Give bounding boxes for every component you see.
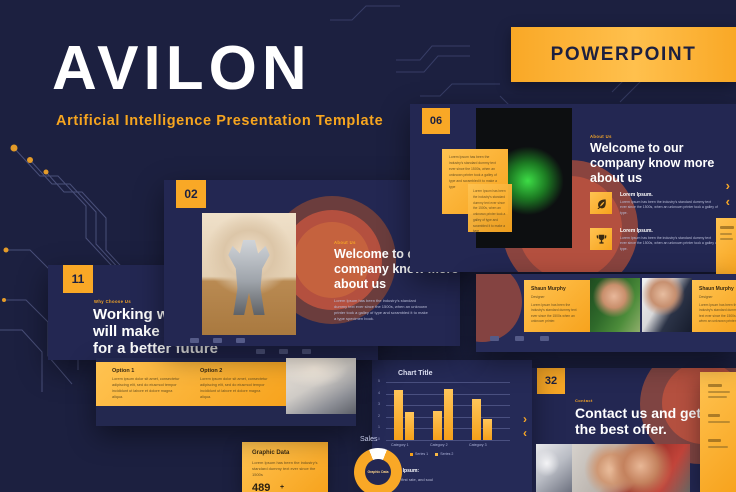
- feature-2-title: Lorem Ipsum.: [620, 228, 718, 234]
- bar-s2-c3: [483, 419, 492, 440]
- slide-number-about-robot: 02: [176, 180, 206, 208]
- contact-headline-line1: Contact us and get: [575, 405, 701, 422]
- about-helmet-prev-icon[interactable]: ‹: [726, 194, 730, 209]
- chart-next-icon[interactable]: ›: [523, 412, 527, 426]
- about-helmet-headline-line3: about us: [590, 171, 642, 186]
- graphic-data-stat: 489: [252, 482, 270, 492]
- team-member-1-name: Shaun Murphy: [531, 286, 566, 292]
- bar-s1-c2: [433, 411, 442, 440]
- about-helmet-next-icon[interactable]: ›: [726, 178, 730, 193]
- about-helmet-callout-2-text: Lorem Ipsum has been the industry's stan…: [473, 189, 507, 235]
- leaf-icon: [590, 192, 612, 214]
- slide-number-contact: 32: [537, 368, 565, 394]
- presentation-preview: AVILON Artificial Intelligence Presentat…: [0, 0, 736, 492]
- page-title: AVILON: [52, 38, 312, 100]
- graphic-data-stat-suffix: +: [280, 484, 284, 491]
- feature-2-text: Lorem Ipsum has been the industry's stan…: [620, 236, 718, 252]
- why-choose-nav-dots[interactable]: [256, 349, 311, 354]
- ytick-3: 3: [378, 402, 380, 406]
- slide-team[interactable]: Shaun Murphy Designer Lorem Ipsum has be…: [476, 274, 736, 352]
- why-choose-eyebrow: Why Choose Us: [94, 299, 131, 304]
- slide-right-orange-panel[interactable]: [700, 372, 736, 492]
- chart-legend: Series 1 Series 2: [410, 452, 453, 456]
- ytick-2: 2: [378, 414, 380, 418]
- slide-options[interactable]: Option 1 Lorem ipsum dolor sit amet, con…: [96, 358, 356, 426]
- feature-item-1[interactable]: Lorem Ipsum. Lorem Ipsum has been the in…: [590, 192, 718, 216]
- option-2-text: Lorem ipsum dolor sit amet, consectetur …: [200, 377, 272, 401]
- sales-title: Sales: [360, 436, 378, 443]
- about-helmet-callout-2: Lorem Ipsum has been the industry's stan…: [468, 184, 512, 232]
- powerpoint-badge: POWERPOINT: [511, 27, 736, 82]
- option-1-text: Lorem ipsum dolor sit amet, consectetur …: [112, 377, 184, 401]
- team-nav-dots[interactable]: [490, 336, 549, 341]
- bar-s1-c1: [394, 390, 403, 440]
- options-orange-panel: Option 1 Lorem ipsum dolor sit amet, con…: [96, 362, 286, 406]
- sales-donut-widget[interactable]: Sales Graphic Data: [340, 434, 416, 492]
- about-helmet-headline-line1: Welcome to our: [590, 141, 684, 156]
- team-member-2-text: Lorem Ipsum has been the industry's stan…: [699, 303, 736, 324]
- legend-series-2: Series 2: [440, 452, 453, 456]
- xtick-category-3: Category 3: [469, 443, 487, 447]
- trophy-icon: [590, 228, 612, 250]
- team-member-1-card[interactable]: Shaun Murphy Designer Lorem Ipsum has be…: [524, 280, 590, 332]
- feature-item-2[interactable]: Lorem Ipsum. Lorem Ipsum has been the in…: [590, 228, 718, 252]
- ytick-5: 5: [378, 379, 380, 383]
- about-helmet-headline-line2: company know more: [590, 156, 714, 171]
- about-robot-photo: [202, 213, 296, 335]
- option-2-title: Option 2: [200, 368, 222, 374]
- slide-number-about-helmet: 06: [422, 108, 450, 134]
- team-member-2-card[interactable]: Shaun Murphy Designer Lorem Ipsum has be…: [692, 280, 736, 332]
- options-photo: [286, 358, 356, 414]
- team-member-1-photo: [590, 278, 640, 332]
- team-member-1-text: Lorem Ipsum has been the industry's stan…: [531, 303, 583, 324]
- about-robot-body: Lorem Ipsum has been the industry's stan…: [334, 298, 430, 322]
- ytick-4: 4: [378, 391, 380, 395]
- about-robot-nav-dots[interactable]: [190, 338, 245, 343]
- graphic-data-text: Lorem Ipsum has been the industry's stan…: [252, 460, 318, 478]
- contact-headline-line2: the best offer.: [575, 421, 667, 438]
- slide-about-helmet[interactable]: 06 Lorem Ipsum has been the industry's s…: [410, 104, 736, 272]
- page-subtitle: Artificial Intelligence Presentation Tem…: [56, 113, 383, 129]
- team-member-1-role: Designer: [531, 295, 545, 299]
- team-member-2-photo: [642, 278, 692, 332]
- contact-photo: [560, 444, 690, 492]
- about-helmet-eyebrow: About Us: [590, 134, 612, 139]
- about-robot-headline-line3: about us: [334, 277, 386, 292]
- bar-s2-c2: [444, 389, 453, 440]
- partial-orange-panel[interactable]: [716, 218, 736, 280]
- sales-center-label: Graphic Data: [367, 470, 388, 474]
- bar-chart-plot: 5 4 3 2 1 0: [386, 382, 510, 440]
- bar-s1-c3: [472, 399, 481, 440]
- team-member-2-role: Designer: [699, 295, 713, 299]
- option-1-title: Option 1: [112, 368, 134, 374]
- chart-prev-icon[interactable]: ‹: [523, 426, 527, 440]
- xtick-category-2: Category 2: [430, 443, 448, 447]
- feature-1-title: Lorem Ipsum.: [620, 192, 718, 198]
- card-graphic-data[interactable]: Graphic Data Lorem Ipsum has been the in…: [242, 442, 328, 492]
- sales-donut: Graphic Data: [354, 448, 402, 492]
- about-robot-eyebrow: About Us: [334, 240, 356, 245]
- contact-robot-photo: [536, 444, 572, 492]
- chart-title: Chart Title: [398, 370, 433, 377]
- slide-number-why-choose: 11: [63, 265, 93, 293]
- team-member-2-name: Shaun Murphy: [699, 286, 734, 292]
- contact-eyebrow: Contact: [575, 398, 593, 403]
- legend-series-1: Series 1: [415, 452, 428, 456]
- graphic-data-title: Graphic Data: [252, 450, 289, 456]
- feature-1-text: Lorem Ipsum has been the industry's stan…: [620, 200, 718, 216]
- ytick-1: 1: [378, 425, 380, 429]
